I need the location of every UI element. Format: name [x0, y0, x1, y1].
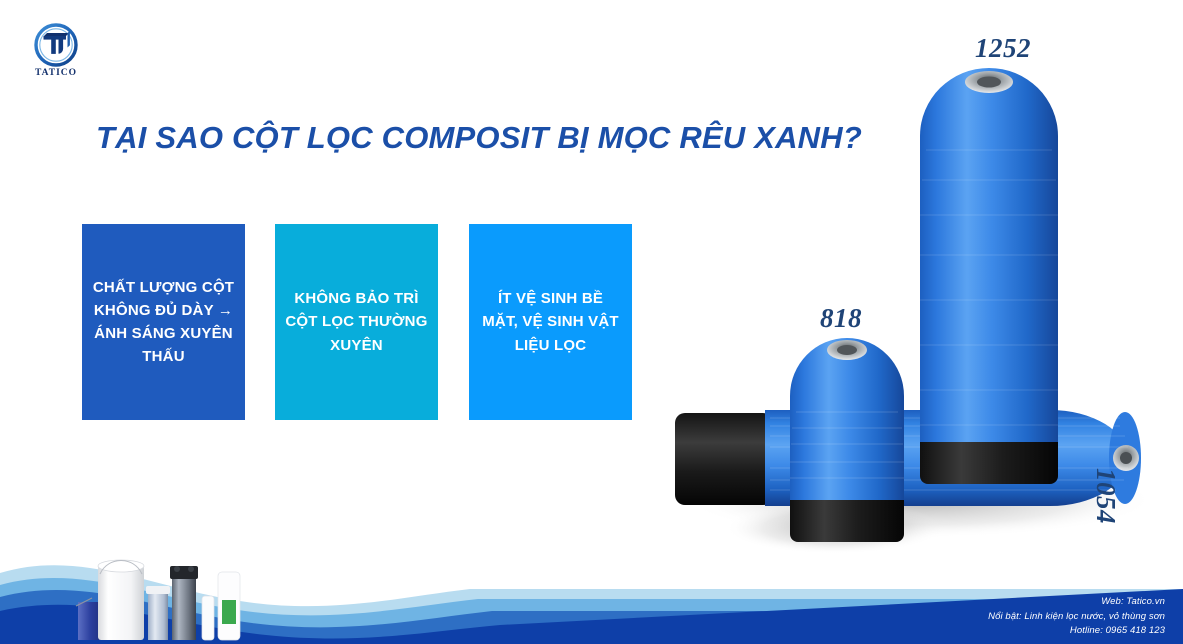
- reason-card-1-label: CHẤT LƯỢNG CỘT KHÔNG ĐỦ DÀY → ÁNH SÁNG X…: [92, 276, 235, 369]
- reason-card-3-label: ÍT VỆ SINH BỀ MẶT, VỆ SINH VẬT LIỆU LỌC: [479, 287, 622, 357]
- dimension-label-818: 818: [820, 303, 862, 334]
- footer-hotline: Hotline: 0965 418 123: [988, 624, 1165, 638]
- tank-vertical-1252: [920, 68, 1058, 484]
- tatico-circular-logo-icon: [22, 22, 90, 68]
- tank-vertical-818: [790, 338, 904, 542]
- reason-card-2-label: KHÔNG BẢO TRÌ CỘT LỌC THƯỜNG XUYÊN: [285, 287, 428, 357]
- reason-card-3[interactable]: ÍT VỆ SINH BỀ MẶT, VỆ SINH VẬT LIỆU LỌC: [469, 224, 632, 420]
- tatico-logo[interactable]: TATICO: [22, 22, 90, 84]
- footer-contact-info: Web: Tatico.vn Nổi bật: Linh kiện lọc nư…: [988, 595, 1165, 638]
- dimension-label-1252: 1252: [975, 33, 1031, 64]
- dimension-label-1054: 1054: [1090, 468, 1121, 524]
- slide-canvas: TATICO TẠI SAO CỘT LỌC COMPOSIT BỊ MỌC R…: [0, 0, 1183, 644]
- logo-wordmark: TATICO: [22, 68, 90, 78]
- footer-highlight: Nổi bật: Linh kiện lọc nước, vỏ thùng sơ…: [988, 610, 1165, 624]
- footer-product-photo: [74, 544, 264, 644]
- footer-web: Web: Tatico.vn: [988, 595, 1165, 609]
- water-filter-products-illustration: [74, 544, 264, 644]
- reason-card-2[interactable]: KHÔNG BẢO TRÌ CỘT LỌC THƯỜNG XUYÊN: [275, 224, 438, 420]
- tank-horizontal-1054: [675, 410, 1141, 506]
- reason-card-1[interactable]: CHẤT LƯỢNG CỘT KHÔNG ĐỦ DÀY → ÁNH SÁNG X…: [82, 224, 245, 420]
